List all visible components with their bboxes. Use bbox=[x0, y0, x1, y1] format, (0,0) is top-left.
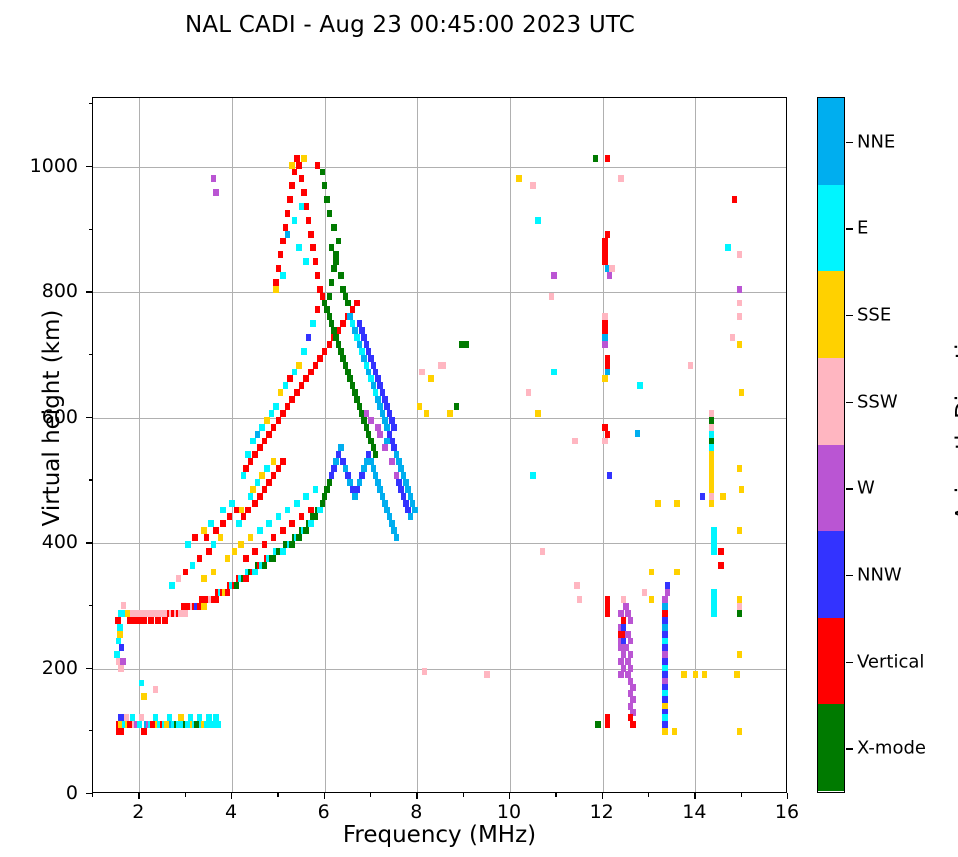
data-point bbox=[384, 403, 390, 410]
data-point bbox=[440, 362, 446, 369]
data-point bbox=[359, 472, 365, 479]
data-point bbox=[303, 258, 309, 265]
data-point bbox=[403, 479, 409, 486]
data-point bbox=[162, 617, 168, 624]
data-point bbox=[530, 472, 536, 479]
data-point bbox=[625, 610, 631, 617]
data-point bbox=[250, 438, 256, 445]
data-point bbox=[364, 424, 370, 431]
data-point bbox=[628, 651, 634, 658]
data-point bbox=[169, 582, 175, 589]
data-point bbox=[257, 444, 263, 451]
data-point bbox=[329, 279, 335, 286]
y-tick-minor bbox=[89, 605, 93, 606]
data-point bbox=[238, 541, 244, 548]
data-point bbox=[412, 507, 418, 514]
data-point bbox=[183, 569, 189, 576]
data-point bbox=[711, 589, 717, 596]
data-point bbox=[130, 714, 136, 721]
data-point bbox=[623, 644, 629, 651]
data-point bbox=[366, 369, 372, 376]
x-tick-minor bbox=[92, 793, 93, 797]
data-point bbox=[605, 721, 611, 728]
data-point bbox=[153, 714, 159, 721]
data-point bbox=[711, 548, 717, 555]
data-point bbox=[287, 196, 293, 203]
data-point bbox=[681, 671, 687, 678]
data-point bbox=[371, 465, 377, 472]
data-point bbox=[350, 306, 356, 313]
data-point bbox=[375, 375, 381, 382]
data-point bbox=[294, 500, 300, 507]
data-point bbox=[322, 348, 328, 355]
data-point bbox=[354, 300, 360, 307]
y-tick-label: 0 bbox=[8, 782, 78, 804]
data-point bbox=[234, 582, 240, 589]
data-point bbox=[308, 231, 314, 238]
data-point bbox=[155, 617, 161, 624]
data-point bbox=[702, 671, 708, 678]
data-point bbox=[204, 534, 210, 541]
data-point bbox=[308, 507, 314, 514]
data-point bbox=[408, 493, 414, 500]
data-point bbox=[317, 507, 323, 514]
y-tick-minor bbox=[89, 730, 93, 731]
data-point bbox=[371, 444, 377, 451]
data-point bbox=[289, 162, 295, 169]
data-point bbox=[213, 714, 219, 721]
data-point bbox=[377, 382, 383, 389]
data-point bbox=[280, 458, 286, 465]
data-point bbox=[382, 500, 388, 507]
data-point bbox=[725, 244, 731, 251]
data-point bbox=[117, 631, 123, 638]
data-point bbox=[206, 548, 212, 555]
colorbar-tick bbox=[846, 662, 853, 663]
data-point bbox=[320, 500, 326, 507]
data-point bbox=[350, 320, 356, 327]
data-point bbox=[289, 520, 295, 527]
data-point bbox=[607, 472, 613, 479]
x-tick-minor bbox=[370, 793, 371, 797]
colorbar-label-vertical: Vertical bbox=[857, 651, 924, 672]
y-tick bbox=[86, 542, 92, 543]
data-point bbox=[306, 334, 312, 341]
data-point bbox=[257, 493, 263, 500]
data-point bbox=[709, 451, 715, 458]
data-point bbox=[148, 617, 154, 624]
x-tick bbox=[138, 793, 139, 799]
data-point bbox=[361, 417, 367, 424]
x-tick-label: 6 bbox=[294, 801, 354, 823]
data-point bbox=[252, 500, 258, 507]
data-point bbox=[674, 569, 680, 576]
data-point bbox=[357, 479, 363, 486]
data-point bbox=[618, 175, 624, 182]
data-point bbox=[630, 721, 636, 728]
data-point bbox=[211, 541, 217, 548]
data-point bbox=[280, 410, 286, 417]
data-point bbox=[662, 610, 668, 617]
data-point bbox=[635, 430, 641, 437]
data-point bbox=[331, 465, 337, 472]
data-point bbox=[463, 341, 469, 348]
x-tick-minor bbox=[741, 793, 742, 797]
data-point bbox=[384, 438, 390, 445]
data-point bbox=[236, 520, 242, 527]
data-point bbox=[377, 403, 383, 410]
data-point bbox=[301, 189, 307, 196]
colorbar-tick bbox=[846, 142, 853, 143]
data-point bbox=[141, 728, 147, 735]
data-point bbox=[371, 362, 377, 369]
data-point bbox=[327, 341, 333, 348]
data-point bbox=[340, 355, 346, 362]
y-tick-minor bbox=[89, 103, 93, 104]
data-point bbox=[422, 668, 428, 675]
x-tick-label: 4 bbox=[201, 801, 261, 823]
data-point bbox=[709, 431, 715, 438]
data-point bbox=[405, 486, 411, 493]
data-point bbox=[394, 472, 400, 479]
data-point bbox=[366, 348, 372, 355]
data-point bbox=[119, 644, 125, 651]
data-point bbox=[662, 617, 668, 624]
figure-title: NAL CADI - Aug 23 00:45:00 2023 UTC bbox=[0, 12, 820, 38]
data-point bbox=[245, 507, 251, 514]
data-point bbox=[347, 479, 353, 486]
data-point bbox=[711, 596, 717, 603]
data-point bbox=[394, 534, 400, 541]
data-point bbox=[211, 175, 217, 182]
data-point bbox=[276, 465, 282, 472]
data-point bbox=[315, 162, 321, 169]
data-point bbox=[313, 258, 319, 265]
data-point bbox=[241, 513, 247, 520]
data-point bbox=[737, 610, 743, 617]
data-point bbox=[322, 300, 328, 307]
data-point bbox=[338, 444, 344, 451]
data-point bbox=[551, 272, 557, 279]
data-point bbox=[276, 417, 282, 424]
data-point bbox=[141, 617, 147, 624]
data-point bbox=[245, 451, 251, 458]
data-point bbox=[327, 479, 333, 486]
data-point bbox=[278, 251, 284, 258]
data-point bbox=[313, 486, 319, 493]
data-point bbox=[289, 396, 295, 403]
data-point bbox=[408, 513, 414, 520]
data-point bbox=[243, 575, 249, 582]
data-point bbox=[700, 493, 706, 500]
data-point bbox=[243, 555, 249, 562]
data-point bbox=[595, 721, 601, 728]
data-point bbox=[333, 334, 339, 341]
data-point bbox=[324, 196, 330, 203]
data-point bbox=[271, 472, 277, 479]
data-point bbox=[628, 714, 634, 721]
data-point bbox=[283, 224, 289, 231]
data-point bbox=[709, 465, 715, 472]
data-point bbox=[605, 231, 611, 238]
data-point bbox=[333, 251, 339, 258]
data-point bbox=[266, 520, 272, 527]
data-point bbox=[322, 182, 328, 189]
data-point bbox=[366, 451, 372, 458]
colorbar-label-nne: NNE bbox=[857, 131, 895, 152]
data-point bbox=[264, 465, 270, 472]
data-point bbox=[718, 548, 724, 555]
data-point bbox=[192, 534, 198, 541]
data-point bbox=[662, 624, 668, 631]
y-axis-title: Virtual height (km) bbox=[39, 248, 65, 588]
x-tick bbox=[231, 793, 232, 799]
data-point bbox=[220, 520, 226, 527]
data-point bbox=[574, 582, 580, 589]
data-point bbox=[324, 486, 330, 493]
colorbar-title: Azimuth Direction bbox=[952, 248, 958, 588]
data-point bbox=[359, 327, 365, 334]
data-point bbox=[602, 327, 608, 334]
data-point bbox=[454, 403, 460, 410]
data-point bbox=[577, 596, 583, 603]
data-point bbox=[605, 155, 611, 162]
data-point bbox=[711, 527, 717, 534]
data-point bbox=[405, 507, 411, 514]
data-point bbox=[211, 569, 217, 576]
data-point bbox=[280, 238, 286, 245]
data-point bbox=[709, 424, 715, 431]
data-point bbox=[252, 548, 258, 555]
data-point bbox=[259, 472, 265, 479]
colorbar-segment-sse bbox=[818, 271, 844, 358]
y-tick-minor bbox=[89, 229, 93, 230]
data-point bbox=[271, 458, 277, 465]
data-point bbox=[352, 327, 358, 334]
data-point bbox=[623, 603, 629, 610]
data-point bbox=[301, 155, 307, 162]
x-tick bbox=[509, 793, 510, 799]
data-point bbox=[292, 369, 298, 376]
data-point bbox=[114, 651, 120, 658]
data-point bbox=[364, 362, 370, 369]
data-point bbox=[271, 424, 277, 431]
data-point bbox=[382, 396, 388, 403]
data-point bbox=[315, 272, 321, 279]
data-point bbox=[322, 493, 328, 500]
colorbar-label-nnw: NNW bbox=[857, 564, 902, 585]
data-point bbox=[734, 671, 740, 678]
data-point bbox=[315, 306, 321, 313]
data-point bbox=[373, 472, 379, 479]
data-point bbox=[602, 375, 608, 382]
data-point bbox=[662, 658, 668, 665]
data-point bbox=[292, 217, 298, 224]
data-point bbox=[185, 541, 191, 548]
data-point bbox=[336, 238, 342, 245]
data-point bbox=[398, 486, 404, 493]
data-point bbox=[605, 355, 611, 362]
data-point bbox=[672, 728, 678, 735]
data-point bbox=[549, 293, 555, 300]
data-point bbox=[419, 369, 425, 376]
data-point bbox=[252, 451, 258, 458]
data-point bbox=[229, 500, 235, 507]
colorbar-tick bbox=[846, 575, 853, 576]
colorbar-segment-x-mode bbox=[818, 704, 844, 791]
data-point bbox=[329, 472, 335, 479]
data-point bbox=[218, 534, 224, 541]
x-tick bbox=[602, 793, 603, 799]
data-point bbox=[605, 603, 611, 610]
data-point bbox=[273, 279, 279, 286]
data-point bbox=[119, 728, 125, 735]
y-tick bbox=[86, 291, 92, 292]
data-point bbox=[294, 155, 300, 162]
data-point bbox=[308, 369, 314, 376]
data-point bbox=[271, 555, 277, 562]
x-tick bbox=[694, 793, 695, 799]
data-point bbox=[572, 438, 578, 445]
data-point bbox=[737, 465, 743, 472]
data-point bbox=[292, 169, 298, 176]
colorbar-label-sse: SSE bbox=[857, 305, 891, 326]
data-point bbox=[737, 300, 743, 307]
data-point bbox=[602, 313, 608, 320]
data-point bbox=[336, 451, 342, 458]
data-point bbox=[167, 714, 173, 721]
data-point bbox=[338, 272, 344, 279]
data-point bbox=[737, 286, 743, 293]
data-point bbox=[625, 631, 631, 638]
data-point bbox=[117, 624, 123, 631]
data-point bbox=[357, 341, 363, 348]
data-point bbox=[289, 541, 295, 548]
data-point bbox=[618, 658, 624, 665]
data-point bbox=[225, 589, 231, 596]
colorbar-tick bbox=[846, 315, 853, 316]
data-point bbox=[709, 479, 715, 486]
data-point bbox=[375, 479, 381, 486]
data-point bbox=[389, 520, 395, 527]
data-point bbox=[280, 527, 286, 534]
data-point bbox=[273, 403, 279, 410]
data-point bbox=[377, 431, 383, 438]
data-point bbox=[602, 244, 608, 251]
data-point bbox=[338, 348, 344, 355]
data-point bbox=[364, 341, 370, 348]
data-point bbox=[215, 721, 221, 728]
data-point bbox=[709, 438, 715, 445]
x-tick-label: 8 bbox=[386, 801, 446, 823]
data-point bbox=[737, 527, 743, 534]
data-point bbox=[188, 714, 194, 721]
data-point bbox=[662, 721, 668, 728]
data-point bbox=[248, 534, 254, 541]
colorbar-label-ssw: SSW bbox=[857, 391, 898, 412]
data-point bbox=[709, 472, 715, 479]
data-point bbox=[607, 272, 613, 279]
data-point bbox=[655, 500, 661, 507]
data-point bbox=[294, 389, 300, 396]
colorbar-tick bbox=[846, 748, 853, 749]
data-point bbox=[327, 293, 333, 300]
colorbar-segment-nne bbox=[818, 98, 844, 185]
data-point bbox=[526, 389, 532, 396]
y-tick bbox=[86, 166, 92, 167]
data-point bbox=[642, 589, 648, 596]
data-point bbox=[262, 486, 268, 493]
data-point bbox=[602, 258, 608, 265]
data-point bbox=[264, 417, 270, 424]
data-point bbox=[259, 424, 265, 431]
data-point bbox=[343, 362, 349, 369]
colorbar-segment-e bbox=[818, 185, 844, 272]
data-point bbox=[299, 513, 305, 520]
data-point bbox=[287, 375, 293, 382]
data-point bbox=[327, 313, 333, 320]
data-point bbox=[621, 617, 627, 624]
data-point bbox=[396, 458, 402, 465]
data-point bbox=[280, 272, 286, 279]
data-point bbox=[350, 382, 356, 389]
data-point bbox=[394, 451, 400, 458]
data-point bbox=[389, 417, 395, 424]
data-point bbox=[649, 569, 655, 576]
data-point bbox=[709, 486, 715, 493]
data-point bbox=[262, 541, 268, 548]
x-axis-title: Frequency (MHz) bbox=[92, 822, 787, 848]
data-point bbox=[389, 458, 395, 465]
data-point bbox=[347, 375, 353, 382]
data-point bbox=[605, 362, 611, 369]
data-point bbox=[602, 320, 608, 327]
data-point bbox=[320, 293, 326, 300]
data-point bbox=[310, 320, 316, 327]
data-point bbox=[197, 555, 203, 562]
data-point bbox=[303, 527, 309, 534]
data-point bbox=[141, 693, 147, 700]
data-point bbox=[618, 631, 624, 638]
data-point bbox=[737, 313, 743, 320]
data-point bbox=[540, 548, 546, 555]
data-point bbox=[447, 410, 453, 417]
data-point bbox=[693, 671, 699, 678]
data-point bbox=[248, 493, 254, 500]
data-point bbox=[197, 714, 203, 721]
data-point bbox=[213, 189, 219, 196]
data-point bbox=[709, 493, 715, 500]
data-point bbox=[310, 244, 316, 251]
data-point bbox=[618, 610, 624, 617]
data-point bbox=[662, 651, 668, 658]
data-point bbox=[709, 410, 715, 417]
data-point bbox=[285, 210, 291, 217]
data-point bbox=[299, 382, 305, 389]
data-point bbox=[665, 589, 671, 596]
data-point bbox=[139, 680, 145, 687]
data-point bbox=[602, 238, 608, 245]
data-point bbox=[252, 569, 258, 576]
data-point bbox=[709, 417, 715, 424]
data-point bbox=[718, 562, 724, 569]
data-point bbox=[324, 306, 330, 313]
data-point bbox=[317, 355, 323, 362]
data-point bbox=[271, 534, 277, 541]
data-point bbox=[336, 341, 342, 348]
ionogram-figure: NAL CADI - Aug 23 00:45:00 2023 UTC 2468… bbox=[0, 0, 958, 857]
data-point bbox=[730, 334, 736, 341]
